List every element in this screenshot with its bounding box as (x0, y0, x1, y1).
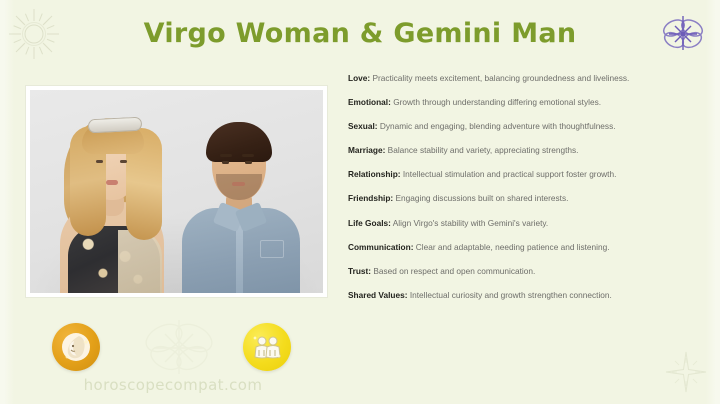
slide-canvas: Virgo Woman & Gemini Man (0, 0, 720, 404)
trait-description: Intellectual stimulation and practical s… (403, 169, 617, 179)
trait-label: Shared Values: (348, 290, 408, 300)
trait-description: Based on respect and open communication. (373, 266, 535, 276)
trait-row: Communication: Clear and adaptable, need… (348, 241, 694, 253)
trait-row: Love: Practicality meets excitement, bal… (348, 72, 694, 84)
trait-label: Emotional: (348, 97, 391, 107)
trait-description: Dynamic and engaging, blending adventure… (380, 121, 616, 131)
site-url-watermark: horoscopecompat.com (58, 376, 288, 394)
trait-description: Intellectual curiosity and growth streng… (410, 290, 612, 300)
trait-row: Sexual: Dynamic and engaging, blending a… (348, 120, 694, 132)
trait-row: Life Goals: Align Virgo's stability with… (348, 217, 694, 229)
trait-description: Growth through understanding differing e… (393, 97, 601, 107)
couple-photo-frame (26, 86, 327, 297)
butterfly-watermark-icon (140, 316, 218, 378)
trait-row: Shared Values: Intellectual curiosity an… (348, 289, 694, 301)
trait-description: Practicality meets excitement, balancing… (372, 73, 629, 83)
trait-label: Marriage: (348, 145, 385, 155)
trait-row: Emotional: Growth through understanding … (348, 96, 694, 108)
virgo-badge[interactable] (52, 323, 100, 371)
trait-description: Engaging discussions built on shared int… (395, 193, 568, 203)
right-edge-highlight (706, 0, 720, 404)
trait-label: Life Goals: (348, 218, 391, 228)
four-point-star-icon (664, 350, 708, 394)
trait-description: Balance stability and variety, appreciat… (388, 145, 579, 155)
trait-label: Trust: (348, 266, 371, 276)
trait-label: Relationship: (348, 169, 401, 179)
trait-row: Marriage: Balance stability and variety,… (348, 144, 694, 156)
trait-row: Relationship: Intellectual stimulation a… (348, 168, 694, 180)
trait-description: Align Virgo's stability with Gemini's va… (393, 218, 549, 228)
traits-list: Love: Practicality meets excitement, bal… (348, 72, 694, 313)
gemini-badge[interactable] (243, 323, 291, 371)
trait-label: Sexual: (348, 121, 378, 131)
left-edge-highlight (0, 0, 14, 404)
trait-row: Friendship: Engaging discussions built o… (348, 192, 694, 204)
trait-label: Friendship: (348, 193, 393, 203)
trait-description: Clear and adaptable, needing patience an… (416, 242, 610, 252)
page-title: Virgo Woman & Gemini Man (0, 18, 720, 49)
virgo-maiden-icon (59, 330, 93, 364)
trait-label: Love: (348, 73, 370, 83)
trait-label: Communication: (348, 242, 413, 252)
couple-photo (30, 90, 323, 293)
gemini-twins-icon (250, 330, 284, 364)
trait-row: Trust: Based on respect and open communi… (348, 265, 694, 277)
